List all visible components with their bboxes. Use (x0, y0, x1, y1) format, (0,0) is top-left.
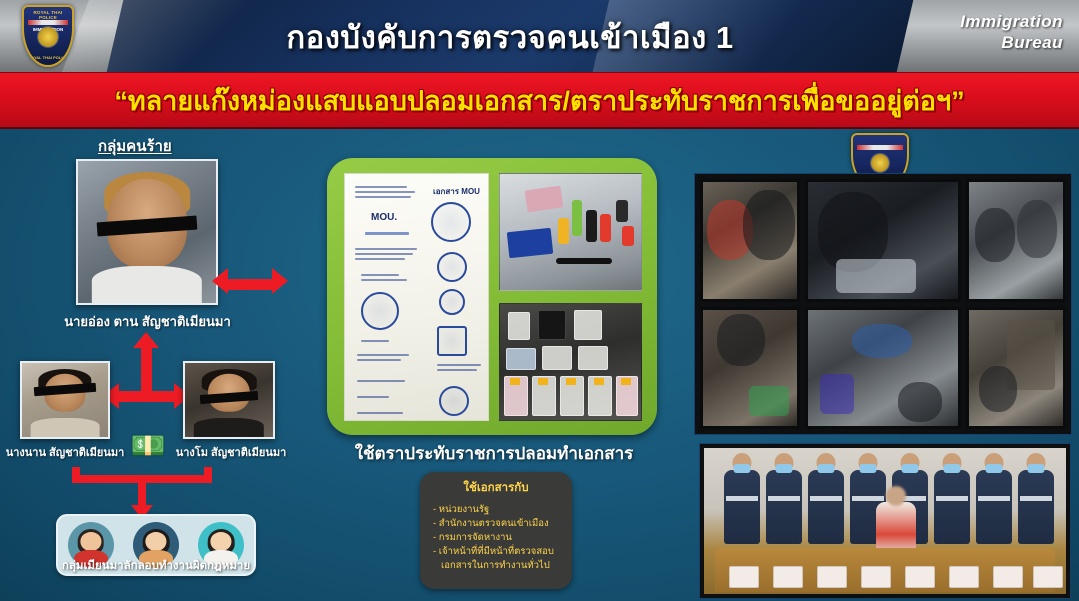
document-usage-box: ใช้เอกสารกับ - หน่วยงานรัฐ - สำนักงานตรว… (420, 472, 572, 589)
arrowhead-up-icon (133, 332, 159, 348)
emblem-stripe (857, 145, 903, 150)
suspect-right-caption: นางโม สัญชาติเมียนมา (168, 443, 294, 461)
suspect-main-caption: นายอ่อง ตาน สัญชาติเมียนมา (40, 311, 255, 332)
official-stamp-icon (437, 326, 467, 356)
evidence-caption: ใช้ตราประทับราชการปลอมทำเอกสาร (327, 440, 661, 467)
info-item: - หน่วยงานรัฐ (429, 503, 563, 517)
suspects-section: กลุ่มคนร้าย นายอ่อง ตาน สัญชาติเมียนมา น… (0, 129, 330, 601)
official-seal-icon (439, 386, 469, 416)
badge-stripe (28, 20, 68, 25)
official-seal-icon (361, 292, 399, 330)
raid-photo (700, 307, 800, 430)
official-seal-icon (437, 252, 467, 282)
header-bar: ROYAL THAI POLICE IMMIGRATION BUREAU ROY… (0, 0, 1079, 72)
arrow-main-to-evidence (228, 279, 274, 290)
doc-header-label: เอกสาร MOU (433, 185, 480, 198)
info-item: เอกสารในการทำงานทั่วไป (429, 559, 563, 573)
headline-text: “ทลายแก๊งหม่องแสบแอบปลอมเอกสาร/ตราประทับ… (114, 79, 964, 122)
raid-photo-grid (694, 173, 1072, 435)
suspect-left-caption: นางนาน สัญชาติเมียนมา (2, 443, 128, 461)
info-item: - สำนักงานตรวจคนเข้าเมือง (429, 517, 563, 531)
raid-photo (966, 307, 1066, 430)
headline-banner: “ทลายแก๊งหม่องแสบแอบปลอมเอกสาร/ตราประทับ… (0, 72, 1079, 129)
raid-photo (805, 179, 960, 302)
evidence-photo-stamps (499, 173, 642, 291)
photo-shirt (92, 266, 202, 303)
royal-thai-police-badge-icon: ROYAL THAI POLICE IMMIGRATION BUREAU ROY… (22, 5, 74, 67)
bureau-line-1: Immigration (883, 11, 1063, 32)
suspects-heading: กลุ่มคนร้าย (98, 134, 172, 158)
infographic-root: ROYAL THAI POLICE IMMIGRATION BUREAU ROY… (0, 0, 1079, 601)
badge-emblem-icon (38, 27, 58, 47)
doc-mou-label: MOU. (371, 212, 397, 223)
arrowhead-left-icon (212, 268, 228, 294)
page-title: กองบังคับการตรวจคนเข้าเมือง 1 (150, 8, 870, 66)
photo-shirt-left (31, 418, 100, 437)
info-item: - กรมการจัดหางาน (429, 531, 563, 545)
official-seal-icon (431, 202, 471, 242)
group-photo-frame (699, 443, 1071, 599)
bureau-line-2: Bureau (883, 32, 1063, 53)
bracket-right-leg (204, 467, 212, 483)
suspect-photo-right (183, 361, 275, 439)
raid-photo (805, 307, 960, 430)
evidence-table (715, 548, 1055, 592)
worker-group-caption: กลุ่มเมียนมาลักลอบทำงานผิดกฎหมาย (22, 557, 290, 575)
suspect-photo-left (20, 361, 110, 439)
evidence-photo-documents (499, 303, 642, 421)
bureau-label: Immigration Bureau (883, 11, 1063, 53)
badge-top-text: ROYAL THAI POLICE (24, 10, 72, 20)
arrowhead-right-icon (272, 268, 288, 294)
bracket-left-leg (72, 467, 80, 483)
arrow-horizontal-connector (118, 391, 176, 402)
emblem-center-icon (871, 154, 889, 172)
info-item: - เจ้าหน้าที่ที่มีหน้าที่ตรวจสอบ (429, 545, 563, 559)
bracket-stem (138, 481, 146, 507)
raid-photo (966, 179, 1066, 302)
evidence-panel: เอกสาร MOU MOU. (327, 158, 657, 435)
money-icon: 💵 (128, 429, 168, 463)
info-box-title: ใช้เอกสารกับ (429, 479, 563, 497)
official-seal-icon (439, 289, 465, 315)
group-photo (704, 448, 1066, 594)
badge-bottom-text: ROYAL THAI POLICE (24, 55, 72, 60)
photo-shirt-right (194, 418, 264, 437)
suspect-photo-main (76, 159, 218, 305)
forged-document-image: เอกสาร MOU MOU. (344, 173, 489, 421)
raid-photo (700, 179, 800, 302)
